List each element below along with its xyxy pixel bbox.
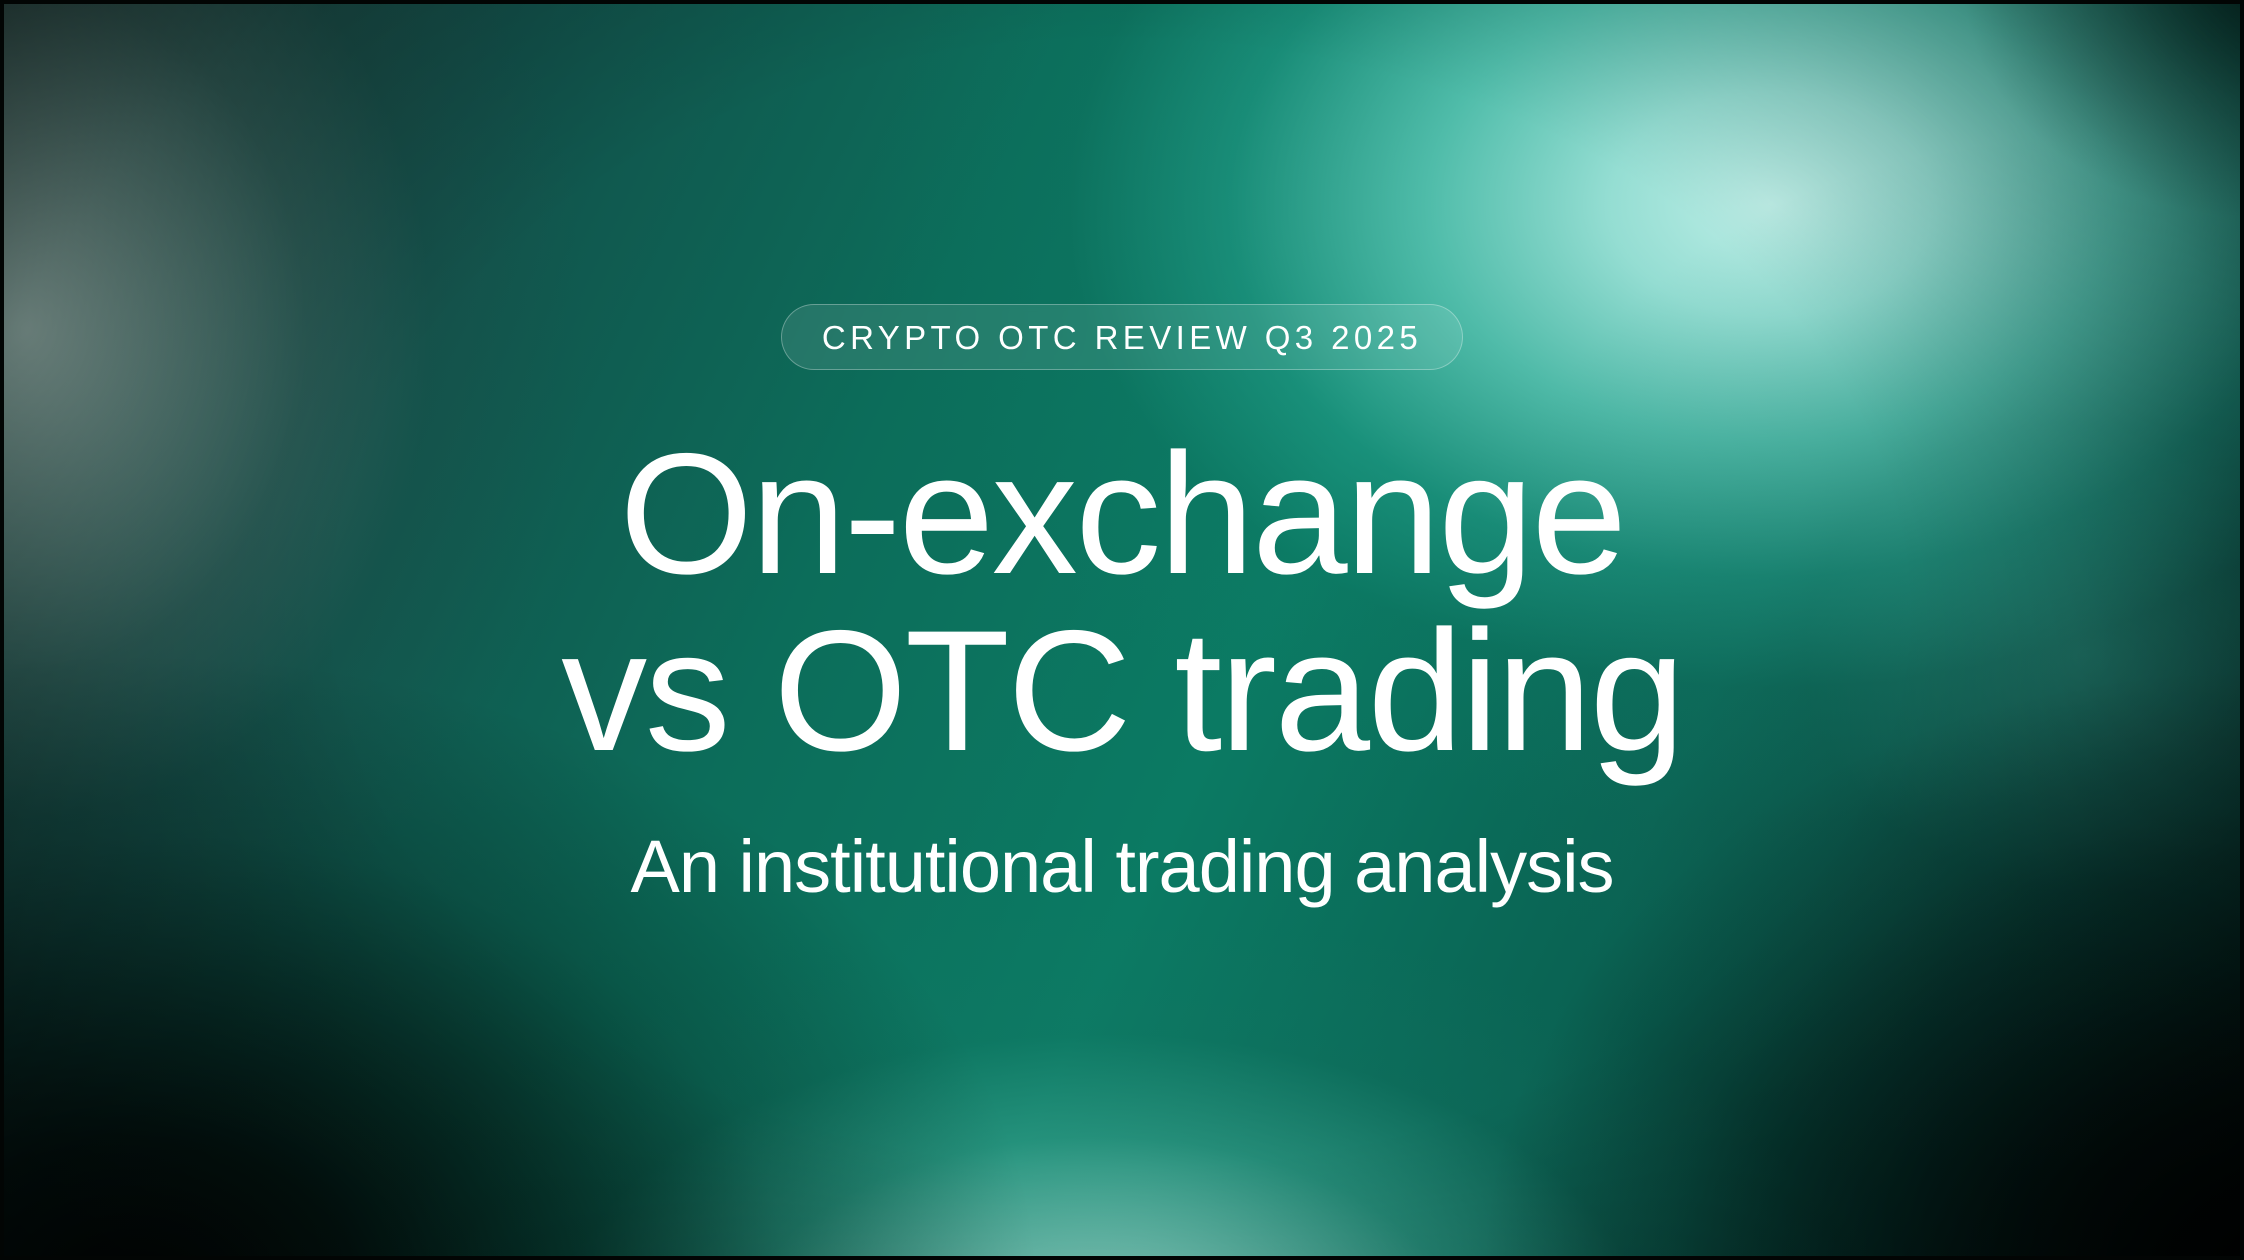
title-slide: CRYPTO OTC REVIEW Q3 2025 On-exchange vs… xyxy=(0,0,2244,1260)
page-title-line-1: On-exchange xyxy=(561,426,1683,603)
slide-content: CRYPTO OTC REVIEW Q3 2025 On-exchange vs… xyxy=(4,4,2240,1256)
page-title-line-2: vs OTC trading xyxy=(561,603,1683,780)
page-title: On-exchange vs OTC trading xyxy=(561,370,1683,780)
page-subtitle: An institutional trading analysis xyxy=(630,826,1613,907)
eyebrow-badge: CRYPTO OTC REVIEW Q3 2025 xyxy=(781,304,1463,370)
eyebrow-label: CRYPTO OTC REVIEW Q3 2025 xyxy=(822,321,1422,354)
